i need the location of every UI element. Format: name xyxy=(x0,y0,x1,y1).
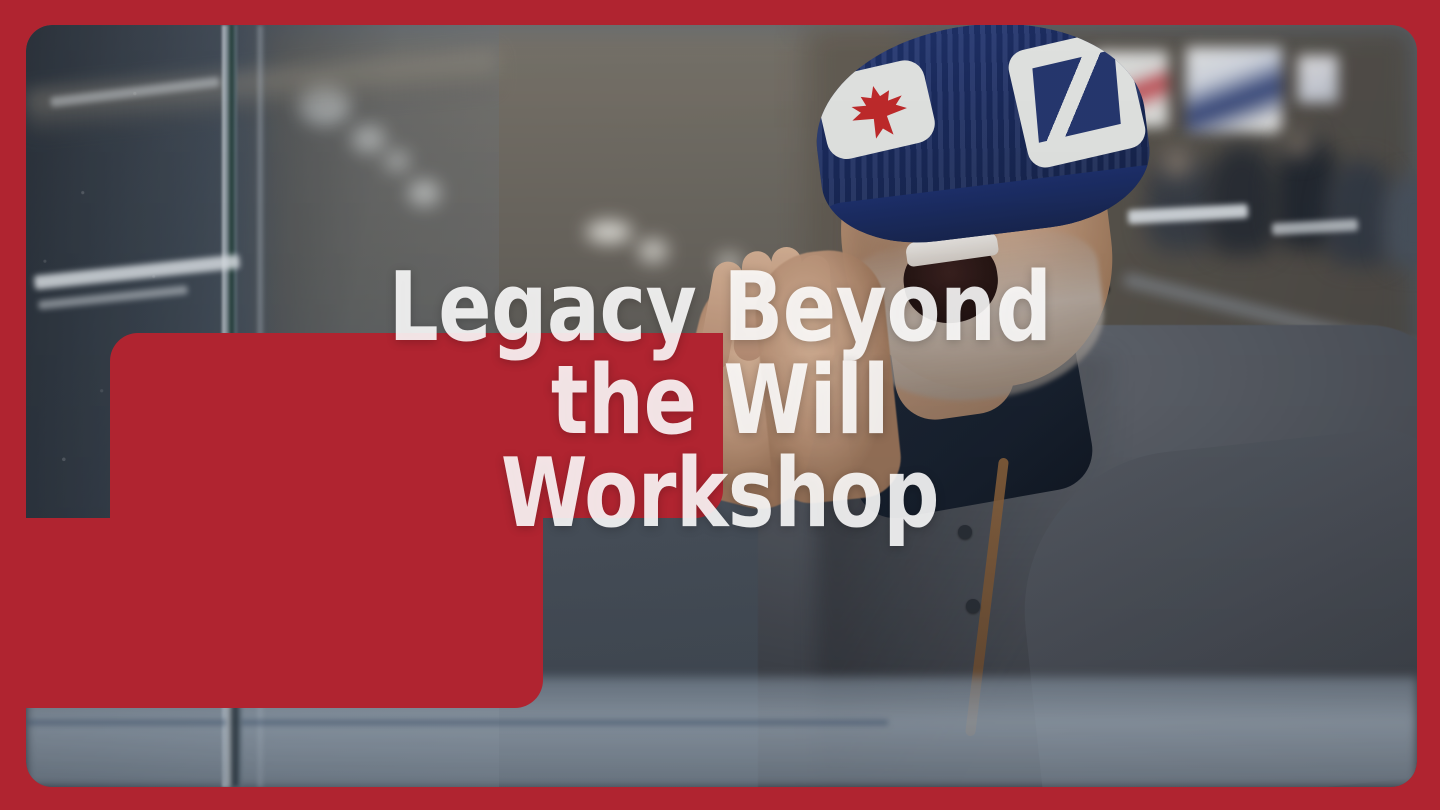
red-notch-upper xyxy=(110,333,723,518)
maple-leaf-toque xyxy=(804,25,1157,254)
rink-boards-line xyxy=(26,720,888,725)
coat-snap xyxy=(966,599,980,613)
thumbnail-canvas: Legacy Beyond the Will Workshop xyxy=(0,0,1440,810)
coat-snap xyxy=(958,525,972,539)
red-notch-lower xyxy=(26,518,543,708)
ceiling-light-bokeh xyxy=(638,239,668,263)
cheering-fan xyxy=(666,25,1417,787)
ceiling-light-bokeh xyxy=(586,221,632,243)
